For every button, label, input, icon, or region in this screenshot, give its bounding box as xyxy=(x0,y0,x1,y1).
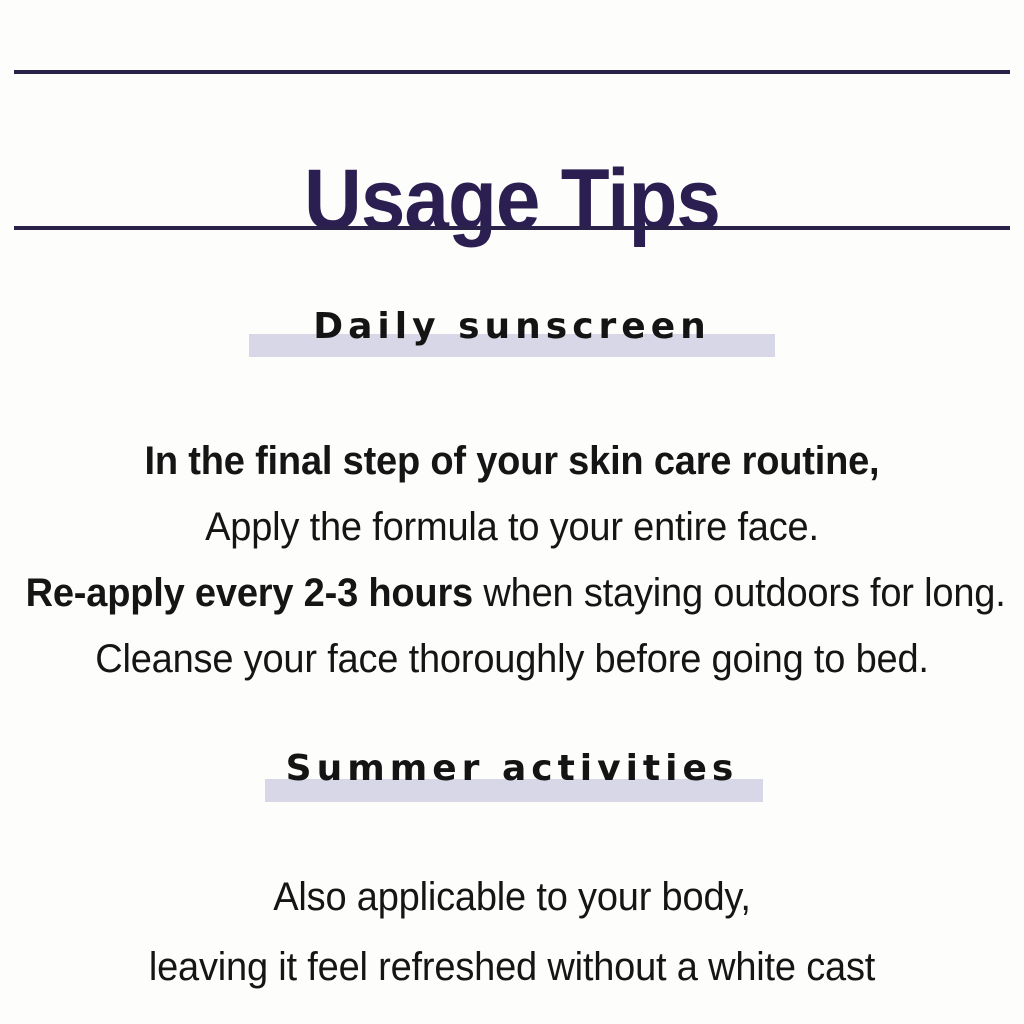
section-body-summer-activities: Also applicable to your body, leaving it… xyxy=(0,862,1024,1002)
section-body-daily-sunscreen: In the final step of your skin care rout… xyxy=(0,428,1024,692)
copy-line: Also applicable to your body, xyxy=(26,862,999,932)
copy-line-regular-part: leaving it feel refreshed without a whit… xyxy=(149,945,875,989)
section-heading-summer-activities: Summer activities xyxy=(0,746,1024,792)
header-divider-bottom xyxy=(14,226,1010,230)
section-heading-label: Daily sunscreen xyxy=(299,304,725,350)
copy-line-bold-part: Re-apply every 2-3 hours xyxy=(26,571,473,615)
section-heading-daily-sunscreen: Daily sunscreen xyxy=(0,304,1024,350)
page-title: Usage Tips xyxy=(36,152,988,248)
copy-line: Apply the formula to your entire face. xyxy=(26,494,999,560)
usage-tips-infographic: Usage Tips Daily sunscreen In the final … xyxy=(0,0,1024,1024)
header-divider-top xyxy=(14,70,1010,74)
copy-line-bold-part: In the final step of your skin care rout… xyxy=(145,439,880,483)
copy-line: Cleanse your face thoroughly before goin… xyxy=(26,626,999,692)
copy-line-regular-part: Apply the formula to your entire face. xyxy=(205,505,819,549)
copy-line-regular-part: Cleanse your face thoroughly before goin… xyxy=(95,637,929,681)
copy-line: Re-apply every 2-3 hours when staying ou… xyxy=(26,560,999,626)
copy-line: In the final step of your skin care rout… xyxy=(26,428,999,494)
section-heading-label: Summer activities xyxy=(272,746,753,792)
copy-line-regular-part: when staying outdoors for long. xyxy=(473,571,1006,615)
copy-line: leaving it feel refreshed without a whit… xyxy=(26,932,999,1002)
copy-line-regular-part: Also applicable to your body, xyxy=(273,875,751,919)
